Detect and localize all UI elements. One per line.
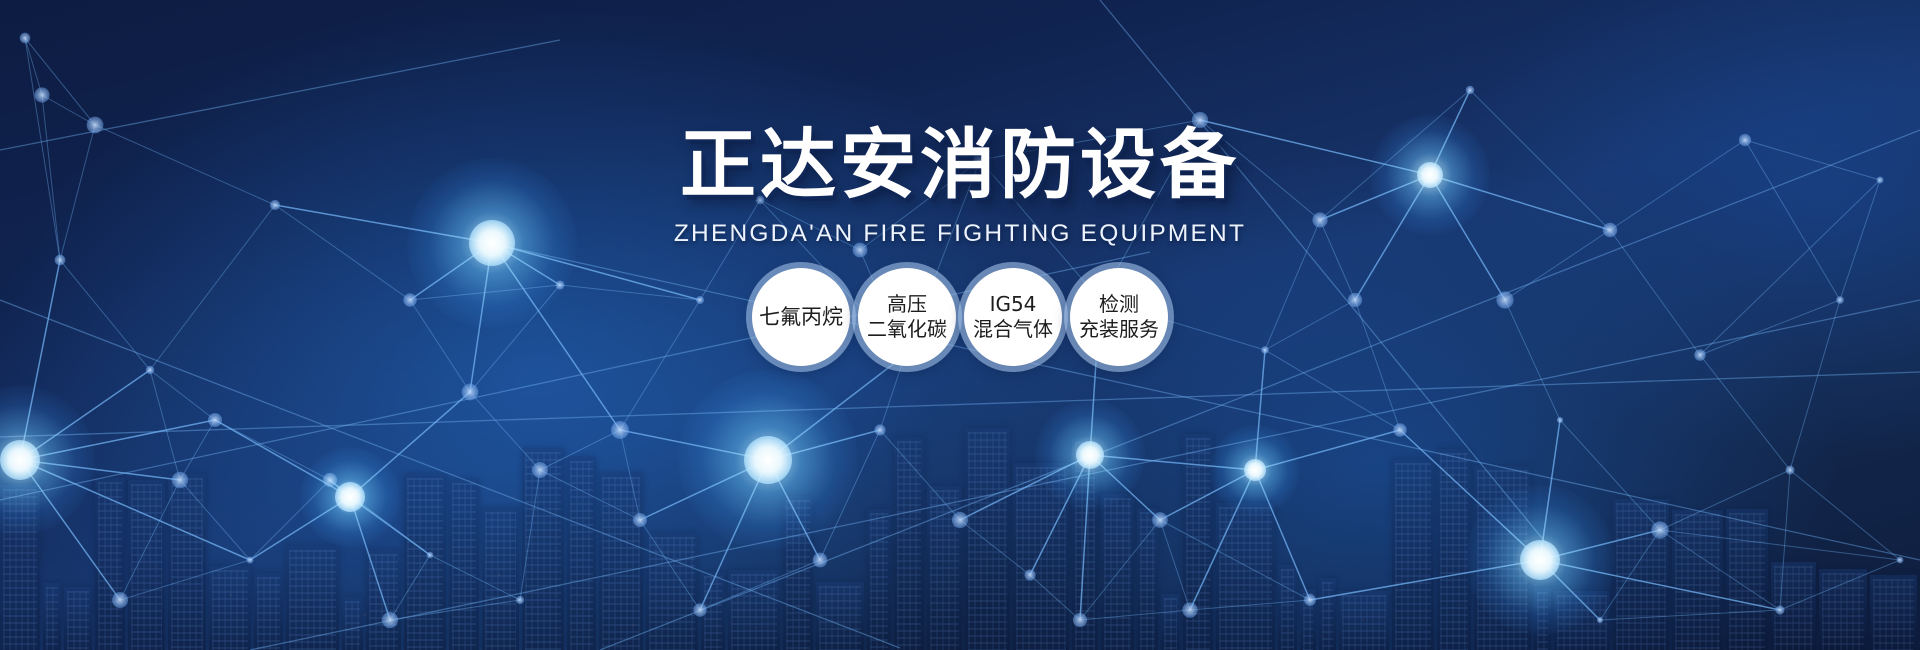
network-node: [323, 473, 337, 487]
network-node: [1073, 613, 1087, 627]
network-edge: [520, 470, 540, 600]
network-node: [532, 462, 548, 478]
network-edge: [540, 470, 640, 520]
network-node: [335, 482, 365, 512]
banner-content: 正达安消防设备 ZHENGDA'AN FIRE FIGHTING EQUIPME…: [0, 0, 1920, 366]
network-edge: [150, 370, 215, 420]
network-node: [0, 440, 40, 480]
network-edge: [250, 497, 350, 560]
network-node: [427, 552, 434, 559]
network-edge: [620, 430, 640, 520]
network-edge: [1600, 610, 1780, 620]
network-edge: [1160, 470, 1255, 520]
network-edge: [1030, 455, 1090, 575]
network-node: [1897, 557, 1904, 564]
network-edge: [1255, 350, 1265, 470]
network-node: [462, 384, 479, 401]
network-edge: [1560, 420, 1660, 530]
network-edge: [1080, 610, 1190, 620]
network-node: [172, 472, 188, 488]
product-badge[interactable]: 高压二氧化碳: [858, 268, 956, 366]
badge-line-1: 检测: [1099, 292, 1139, 317]
badge-line-2: 混合气体: [973, 317, 1053, 342]
network-edge: [1790, 470, 1900, 560]
network-node: [112, 592, 128, 608]
network-node: [208, 413, 222, 427]
network-node: [952, 512, 968, 528]
network-edge: [1030, 575, 1080, 620]
page-title: 正达安消防设备: [0, 128, 1920, 204]
network-node: [1244, 459, 1266, 481]
network-node: [146, 366, 154, 374]
badge-line-1: IG54: [990, 292, 1037, 317]
network-edge: [150, 370, 180, 480]
network-node: [1076, 441, 1104, 469]
network-node: [1152, 512, 1168, 528]
page-subtitle: ZHENGDA'AN FIRE FIGHTING EQUIPMENT: [0, 220, 1920, 248]
hero-banner: 正达安消防设备 ZHENGDA'AN FIRE FIGHTING EQUIPME…: [0, 0, 1920, 650]
network-edge: [350, 497, 390, 620]
badge-line-1: 高压: [887, 292, 927, 317]
network-node: [1651, 521, 1668, 538]
network-node: [1182, 602, 1197, 617]
network-node: [247, 557, 254, 564]
network-edge: [1255, 430, 1400, 470]
network-edge: [960, 520, 1030, 575]
badge-line-2: 二氧化碳: [867, 317, 947, 342]
network-edge: [1540, 560, 1780, 610]
network-edge: [1190, 470, 1255, 610]
network-node: [744, 436, 792, 484]
network-edge: [470, 392, 540, 470]
network-node: [693, 603, 706, 616]
network-node: [1785, 465, 1794, 474]
network-edge: [180, 420, 215, 480]
network-node: [1775, 605, 1784, 614]
network-edge: [250, 480, 330, 560]
network-node: [633, 513, 647, 527]
network-node: [1024, 569, 1035, 580]
network-edge: [540, 430, 620, 470]
network-edge: [120, 480, 180, 600]
network-node: [1304, 594, 1316, 606]
network-node: [813, 553, 828, 568]
network-edge: [1310, 560, 1540, 600]
network-edge: [120, 560, 250, 600]
network-edge: [180, 480, 250, 560]
network-edge: [700, 560, 820, 610]
network-edge: [430, 555, 520, 600]
network-edge: [1090, 455, 1160, 520]
network-node: [1597, 617, 1603, 623]
network-edge: [1660, 470, 1790, 530]
network-node: [1393, 423, 1407, 437]
network-edge: [1190, 600, 1310, 610]
network-edge: [880, 430, 960, 520]
network-edge: [1660, 530, 1900, 560]
network-edge: [820, 430, 880, 560]
network-edge: [1080, 520, 1160, 620]
network-node: [611, 421, 629, 439]
network-node: [1557, 417, 1563, 423]
product-badge[interactable]: 七氟丙烷: [752, 268, 850, 366]
network-edge: [640, 520, 700, 610]
network-edge: [390, 555, 430, 620]
network-edge-long: [0, 372, 1920, 437]
network-node: [382, 612, 398, 628]
network-edge: [1780, 560, 1900, 610]
network-node: [516, 596, 524, 604]
network-edge: [880, 355, 905, 430]
product-badge[interactable]: 检测充装服务: [1070, 268, 1168, 366]
network-edge: [1080, 455, 1090, 620]
network-edge: [350, 392, 470, 497]
network-edge: [1780, 470, 1790, 610]
network-node: [1520, 540, 1560, 580]
network-edge: [1255, 470, 1310, 600]
network-edge: [1700, 355, 1790, 470]
badge-line-2: 充装服务: [1079, 317, 1159, 342]
badge-line-1: 七氟丙烷: [759, 304, 843, 330]
product-badge[interactable]: IG54混合气体: [964, 268, 1062, 366]
network-node: [874, 424, 885, 435]
product-badge-list: 七氟丙烷高压二氧化碳IG54混合气体检测充装服务: [0, 268, 1920, 366]
